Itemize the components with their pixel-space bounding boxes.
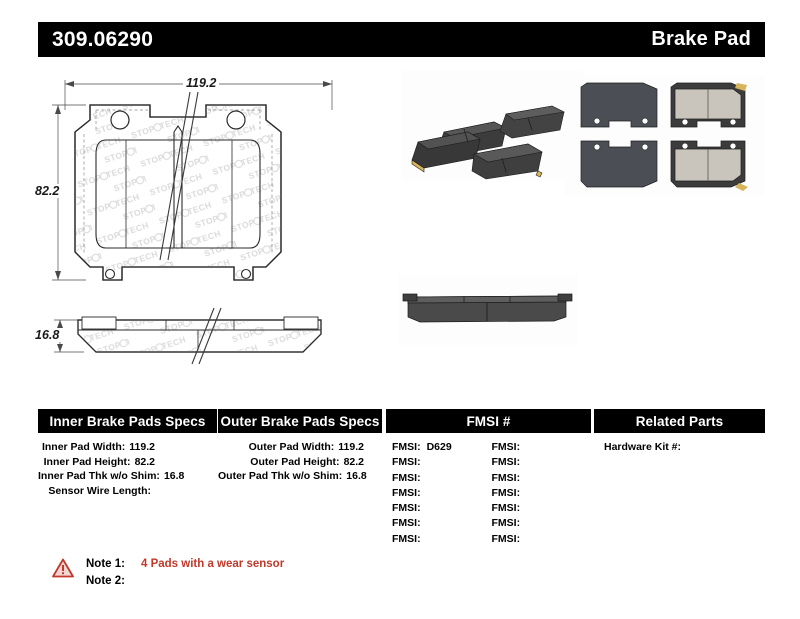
spec-value: 82.2: [131, 456, 155, 468]
column-body-related: Hardware Kit #:: [594, 433, 765, 455]
column-fmsi: FMSI # FMSI:D629 FMSI: FMSI: FMSI: FMSI:…: [386, 409, 591, 549]
part-number: 309.06290: [52, 28, 153, 52]
spec-label: Inner Pad Height:: [44, 456, 131, 468]
spec-label: Outer Pad Width:: [249, 441, 335, 453]
fmsi-row: FMSI:D629: [392, 440, 492, 455]
fmsi-label: FMSI:: [392, 441, 421, 453]
spec-value: 82.2: [340, 456, 364, 468]
column-body-outer: Outer Pad Width:119.2 Outer Pad Height:8…: [218, 433, 382, 484]
fmsi-label: FMSI:: [492, 472, 521, 484]
note-item: Note 2:: [86, 573, 284, 590]
column-header-related: Related Parts: [594, 409, 765, 433]
fmsi-row: FMSI:: [392, 471, 492, 486]
related-part-row: Hardware Kit #:: [604, 440, 765, 455]
specifications-table: Inner Brake Pads Specs Inner Pad Width:1…: [38, 409, 765, 549]
note-text: 4 Pads with a wear sensor: [134, 556, 284, 573]
spec-label: Inner Pad Thk w/o Shim:: [38, 470, 160, 482]
fmsi-label: FMSI:: [492, 533, 521, 545]
fmsi-value: [520, 456, 526, 468]
column-outer-specs: Outer Brake Pads Specs Outer Pad Width:1…: [218, 409, 382, 549]
spec-value: 16.8: [160, 470, 184, 482]
spec-label: Sensor Wire Length:: [48, 485, 151, 497]
fmsi-value: [421, 456, 427, 468]
fmsi-value: [520, 487, 526, 499]
fmsi-value: [520, 502, 526, 514]
spec-label: Outer Pad Thk w/o Shim:: [218, 470, 342, 482]
fmsi-row: FMSI:: [392, 532, 492, 547]
warning-triangle-icon: [52, 558, 74, 583]
fmsi-label: FMSI:: [392, 502, 421, 514]
technical-drawing-area: STOP TECH STOP TE: [38, 62, 398, 392]
fmsi-row: FMSI:: [392, 455, 492, 470]
spec-value: 16.8: [342, 470, 366, 482]
fmsi-value: [421, 517, 427, 529]
column-header-outer: Outer Brake Pads Specs: [218, 409, 382, 433]
product-photo-area: [398, 62, 765, 392]
fmsi-label: FMSI:: [492, 517, 521, 529]
note-label: Note 1:: [86, 556, 134, 573]
fmsi-value: [520, 533, 526, 545]
fmsi-row: FMSI:: [492, 532, 592, 547]
column-body-fmsi: FMSI:D629 FMSI: FMSI: FMSI: FMSI: FMSI: …: [386, 433, 591, 547]
dimension-thickness-label: 16.8: [32, 328, 62, 342]
pad-edge-view: [38, 302, 398, 372]
pads-angled-photo: [402, 70, 582, 180]
document-type-title: Brake Pad: [651, 28, 751, 51]
spec-row: Outer Pad Width:119.2: [218, 440, 382, 455]
spec-value: [151, 485, 155, 497]
fmsi-label: FMSI:: [492, 441, 521, 453]
fmsi-value: [520, 441, 526, 453]
fmsi-row: FMSI:: [492, 516, 592, 531]
fmsi-label: FMSI:: [392, 533, 421, 545]
notes-list: Note 1: 4 Pads with a wear sensor Note 2…: [86, 556, 284, 590]
fmsi-subcolumn-left: FMSI:D629 FMSI: FMSI: FMSI: FMSI: FMSI: …: [392, 440, 492, 547]
notes-section: Note 1: 4 Pads with a wear sensor Note 2…: [52, 556, 452, 590]
fmsi-value: [421, 533, 427, 545]
fmsi-row: FMSI:: [392, 516, 492, 531]
fmsi-row: FMSI:: [392, 501, 492, 516]
spec-sheet-page: 309.06290 Brake Pad STOP TECH STOP TE: [0, 0, 800, 619]
fmsi-label: FMSI:: [392, 456, 421, 468]
spec-row: Inner Pad Thk w/o Shim:16.8: [38, 469, 217, 484]
column-related-parts: Related Parts Hardware Kit #:: [594, 409, 765, 549]
dimension-width-label: 119.2: [183, 76, 219, 90]
fmsi-label: FMSI:: [392, 517, 421, 529]
fmsi-row: FMSI:: [492, 501, 592, 516]
spec-row: Outer Pad Thk w/o Shim:16.8: [218, 469, 382, 484]
fmsi-row: FMSI:: [492, 471, 592, 486]
column-header-inner: Inner Brake Pads Specs: [38, 409, 217, 433]
brake-pad-drawing-svg: STOP TECH STOP TE: [38, 62, 398, 392]
spec-label: Outer Pad Height:: [250, 456, 339, 468]
spec-value: 119.2: [125, 441, 155, 453]
fmsi-label: FMSI:: [492, 456, 521, 468]
fmsi-row: FMSI:: [492, 486, 592, 501]
fmsi-label: FMSI:: [492, 487, 521, 499]
spec-row: Inner Pad Width:119.2: [38, 440, 217, 455]
fmsi-label: FMSI:: [392, 487, 421, 499]
dimension-height-label: 82.2: [32, 184, 62, 198]
fmsi-value: [421, 487, 427, 499]
related-part-label: Hardware Kit #:: [604, 441, 681, 453]
fmsi-value: D629: [421, 441, 452, 453]
fmsi-value: [421, 472, 427, 484]
fmsi-value: [520, 517, 526, 529]
column-header-fmsi: FMSI #: [386, 409, 591, 433]
fmsi-value: [520, 472, 526, 484]
note-item: Note 1: 4 Pads with a wear sensor: [86, 556, 284, 573]
pad-edge-photo: [398, 275, 578, 345]
spec-row: Sensor Wire Length:: [38, 484, 217, 499]
column-body-inner: Inner Pad Width:119.2 Inner Pad Height:8…: [38, 433, 217, 498]
fmsi-value: [421, 502, 427, 514]
pads-topdown-photo: [565, 75, 765, 195]
fmsi-subcolumn-right: FMSI: FMSI: FMSI: FMSI: FMSI: FMSI: FMSI…: [492, 440, 592, 547]
fmsi-row: FMSI:: [492, 440, 592, 455]
column-inner-specs: Inner Brake Pads Specs Inner Pad Width:1…: [38, 409, 217, 549]
spec-label: Inner Pad Width:: [42, 441, 125, 453]
header-bar: 309.06290 Brake Pad: [38, 22, 765, 57]
spec-row: Inner Pad Height:82.2: [38, 455, 217, 470]
spec-value: 119.2: [334, 441, 364, 453]
fmsi-label: FMSI:: [392, 472, 421, 484]
fmsi-label: FMSI:: [492, 502, 521, 514]
fmsi-row: FMSI:: [392, 486, 492, 501]
spec-row: Outer Pad Height:82.2: [218, 455, 382, 470]
note-label: Note 2:: [86, 573, 134, 590]
fmsi-row: FMSI:: [492, 455, 592, 470]
